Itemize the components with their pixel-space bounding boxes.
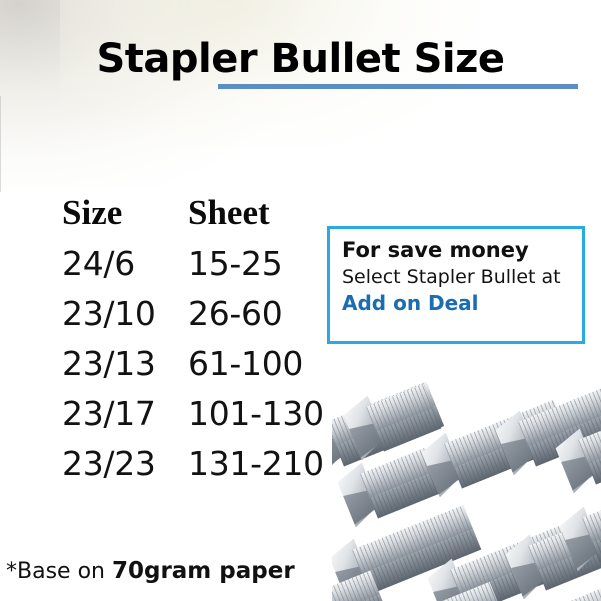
promo-subtext: Select Stapler Bullet at — [342, 264, 582, 290]
table-row: 23/23 131-210 — [62, 446, 342, 496]
poster-root: Stapler Bullet Size Size Sheet 24/6 15-2… — [0, 0, 601, 601]
paper-edge-line — [0, 96, 1, 192]
table-row: 24/6 15-25 — [62, 246, 342, 296]
title-underline — [218, 84, 578, 89]
paper-tint-corner — [0, 0, 300, 190]
staples-photo — [332, 382, 601, 601]
cell-size: 23/23 — [62, 446, 188, 482]
column-header-size: Size — [62, 194, 188, 232]
cell-size: 23/13 — [62, 346, 188, 382]
footnote: *Base on 70gram paper — [6, 557, 295, 586]
column-header-sheet: Sheet — [188, 194, 342, 232]
cell-sheet: 15-25 — [188, 246, 342, 282]
table-row: 23/17 101-130 — [62, 396, 342, 446]
cell-sheet: 131-210 — [188, 446, 342, 482]
promo-headline: For save money — [342, 237, 582, 264]
cell-size: 24/6 — [62, 246, 188, 282]
cell-size: 23/10 — [62, 296, 188, 332]
footnote-emphasis: 70gram paper — [112, 558, 295, 584]
cell-sheet: 61-100 — [188, 346, 342, 382]
footnote-prefix: *Base on — [6, 559, 112, 584]
cell-sheet: 26-60 — [188, 296, 342, 332]
cell-sheet: 101-130 — [188, 396, 342, 432]
table-header-row: Size Sheet — [62, 194, 342, 246]
page-title: Stapler Bullet Size — [0, 36, 601, 82]
table-row: 23/10 26-60 — [62, 296, 342, 346]
cell-size: 23/17 — [62, 396, 188, 432]
table-row: 23/13 61-100 — [62, 346, 342, 396]
promo-callout-box[interactable]: For save money Select Stapler Bullet at … — [327, 226, 585, 344]
promo-link-add-on-deal[interactable]: Add on Deal — [342, 290, 582, 317]
size-sheet-table: Size Sheet 24/6 15-25 23/10 26-60 23/13 … — [62, 194, 342, 496]
